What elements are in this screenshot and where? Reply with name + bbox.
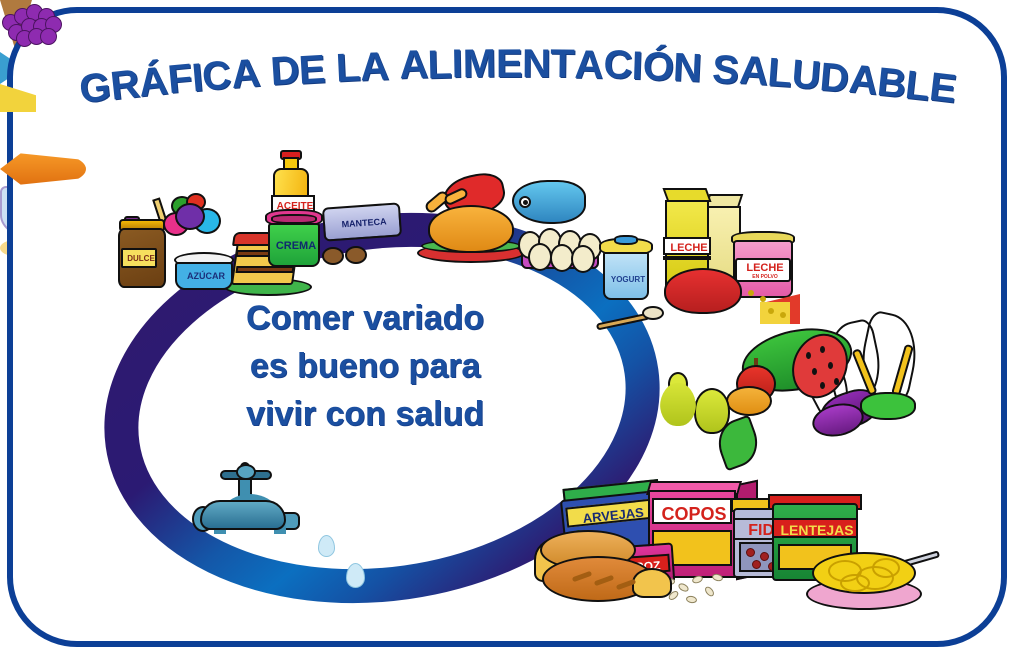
watermelon-seed-icon bbox=[820, 346, 825, 353]
cereal-box-label: COPOS bbox=[652, 498, 732, 524]
bread-slice-icon bbox=[632, 568, 672, 598]
jam-jar-label-text: DULCE bbox=[123, 255, 159, 263]
page-title-char: I bbox=[452, 42, 463, 87]
egg-icon bbox=[528, 243, 552, 271]
nut-icon bbox=[345, 246, 367, 264]
page-title-char: S bbox=[711, 47, 740, 93]
cereal-label-text: COPOS bbox=[654, 505, 734, 523]
slogan-line-2: es bueno para bbox=[170, 342, 560, 390]
watermelon-seed-icon bbox=[820, 382, 825, 389]
water-drop-icon bbox=[346, 563, 365, 588]
grape-icon bbox=[40, 28, 57, 45]
nutrition-poster: GRÁFICA DE LA ALIMENTACIÓN SALUDABLE GRÁ… bbox=[0, 0, 1024, 664]
lentils-bag-label: LENTEJAS bbox=[772, 518, 858, 538]
page-title-char: E bbox=[927, 65, 958, 113]
melon-half-icon bbox=[726, 386, 772, 416]
page-title-char: A bbox=[230, 51, 262, 98]
cheese-hole-icon bbox=[780, 312, 786, 318]
slogan: Comer variado es bueno para vivir con sa… bbox=[170, 294, 560, 438]
page-title-char: A bbox=[847, 57, 879, 104]
page-title-char: L bbox=[766, 51, 793, 98]
yogurt-lid-top-icon bbox=[614, 235, 638, 245]
milk-label-text: LECHE bbox=[665, 243, 713, 254]
lentils-label-text: LENTEJAS bbox=[774, 523, 860, 537]
page-title-char: Á bbox=[137, 59, 170, 107]
page-title-char: C bbox=[603, 43, 633, 89]
butter-label-text: MANTECA bbox=[325, 216, 403, 230]
page-title-char: L bbox=[335, 45, 361, 91]
jam-jar-label: DULCE bbox=[121, 248, 157, 268]
wooden-spoon-bowl-icon bbox=[642, 306, 664, 320]
page-title-char: C bbox=[201, 53, 233, 100]
sugar-bowl-icon: AZÚCAR bbox=[175, 262, 233, 290]
bean-icon bbox=[760, 552, 769, 561]
salad-greens-icon bbox=[860, 392, 916, 420]
cheese-hole-icon bbox=[760, 296, 766, 302]
cake-layer-2-icon bbox=[236, 266, 295, 273]
cheese-wheel-icon bbox=[664, 268, 742, 314]
butter-stick-icon: MANTECA bbox=[322, 202, 402, 241]
page-title-char: A bbox=[399, 43, 429, 89]
page-title-char: N bbox=[522, 42, 551, 87]
page-title-char: A bbox=[574, 42, 603, 88]
page-title-char: T bbox=[550, 42, 574, 87]
ice-cream-scoop-purple-icon bbox=[175, 203, 205, 230]
watermelon-seed-icon bbox=[828, 362, 833, 369]
milk-carton-label: LECHE bbox=[663, 237, 711, 255]
slogan-line-3: vivir con salud bbox=[170, 390, 560, 438]
cheese-hole-icon bbox=[748, 290, 754, 296]
yogurt-label-text: YOGURT bbox=[605, 276, 651, 284]
watermelon-seed-icon bbox=[806, 352, 811, 359]
page-title-char: E bbox=[496, 42, 522, 87]
spaghetti-strand-icon bbox=[840, 574, 870, 592]
nut-icon bbox=[322, 247, 344, 265]
yogurt-tub-icon: YOGURT bbox=[603, 252, 649, 300]
pear-icon bbox=[694, 388, 730, 434]
spaghetti-strand-icon bbox=[872, 558, 900, 578]
water-faucet-icon bbox=[200, 500, 286, 530]
watermelon-seed-icon bbox=[812, 368, 817, 375]
page-title-char: E bbox=[298, 47, 327, 93]
milk-carton-stripe-icon bbox=[663, 256, 711, 260]
page-title-char: Ó bbox=[642, 44, 674, 90]
cream-label-text: CREMA bbox=[270, 241, 322, 252]
watermelon-seed-icon bbox=[834, 378, 839, 385]
page-title-char: F bbox=[166, 57, 194, 104]
slogan-line-1: Comer variado bbox=[170, 294, 560, 342]
sugar-bowl-label-text: AZÚCAR bbox=[177, 272, 235, 281]
page-title-char: D bbox=[818, 54, 850, 101]
cream-tub-icon: CREMA bbox=[268, 223, 320, 267]
page-title-char: A bbox=[359, 44, 389, 90]
page-title-char: N bbox=[672, 45, 702, 91]
page-title-char: A bbox=[738, 49, 769, 96]
powdered-milk-label: LECHE EN POLVO bbox=[735, 258, 791, 282]
water-drop-icon bbox=[318, 535, 335, 557]
powdered-milk-label-text: LECHE bbox=[737, 263, 793, 274]
powdered-milk-sublabel-text: EN POLVO bbox=[737, 275, 793, 280]
bean-icon bbox=[752, 560, 761, 569]
page-title-char: U bbox=[790, 52, 822, 99]
roast-chicken-icon bbox=[428, 205, 514, 253]
page-title-char: D bbox=[269, 49, 300, 96]
egg-icon bbox=[571, 245, 595, 273]
fish-pupil-icon bbox=[523, 200, 528, 205]
bean-icon bbox=[746, 548, 755, 557]
page-title-char: M bbox=[462, 42, 495, 87]
page-title-char: G bbox=[77, 65, 113, 113]
page-title-char: L bbox=[427, 43, 452, 88]
cheese-hole-icon bbox=[768, 308, 774, 314]
page-title: GRÁFICA DE LA ALIMENTACIÓN SALUDABLE GRÁ… bbox=[0, 38, 1024, 108]
